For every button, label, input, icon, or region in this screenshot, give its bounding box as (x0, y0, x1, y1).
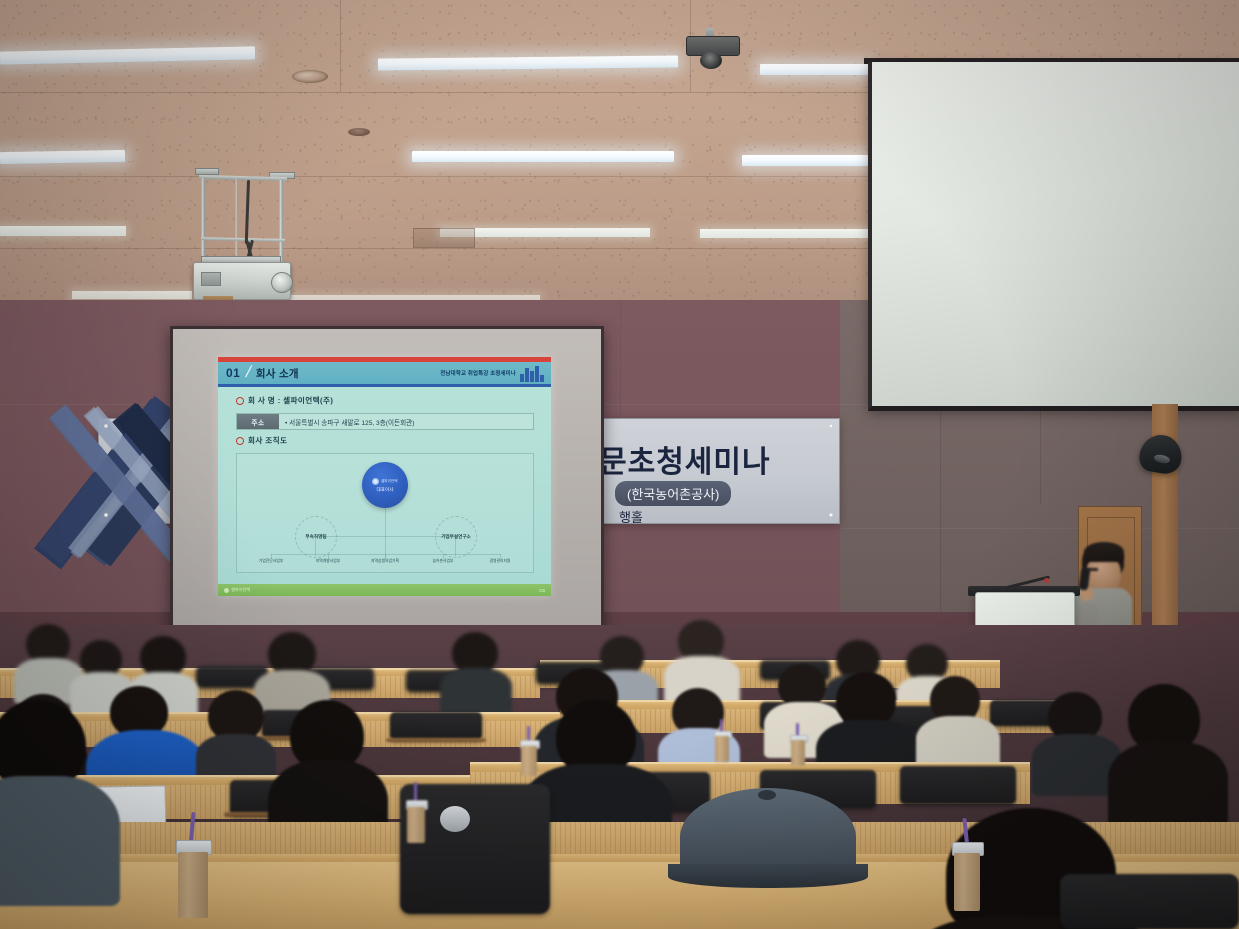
projector-lift (185, 168, 295, 304)
ceiling-vent (292, 70, 328, 83)
ceiling-light (0, 226, 126, 236)
chair (390, 712, 482, 740)
presenter-hair-top (1084, 542, 1124, 562)
ceiling-light (412, 151, 674, 162)
ceiling-panel (413, 228, 475, 248)
projection-screen-main (170, 326, 604, 652)
cap-button (758, 790, 776, 800)
mic-tip-icon (1044, 578, 1049, 583)
projector-vent (201, 272, 221, 286)
cap-brim (668, 864, 868, 888)
ceiling-light (760, 64, 868, 75)
screen-surface (173, 329, 601, 649)
ceiling-light (72, 291, 192, 299)
banner-title: 문초청세미나 (599, 437, 771, 481)
chair-foreground (1060, 874, 1239, 929)
projector-lens (271, 272, 293, 293)
ceiling-vent (348, 128, 370, 136)
ceiling-light (742, 155, 868, 166)
chair-arm (440, 806, 470, 832)
ceiling-light (700, 229, 868, 238)
banner-venue: 행홀 (619, 507, 643, 526)
ceiling-light (0, 150, 125, 164)
banner-subtitle: (한국농어촌공사) (615, 481, 731, 506)
projector-lens (700, 52, 722, 69)
projection-screen-secondary (868, 62, 1239, 411)
lecture-hall-photo: 문초청세미나 (한국농어촌공사) 행홀 01 / 회사 소개 전남대학교 취업특… (0, 0, 1239, 929)
chair (900, 766, 1016, 804)
chair-rail (386, 738, 486, 742)
